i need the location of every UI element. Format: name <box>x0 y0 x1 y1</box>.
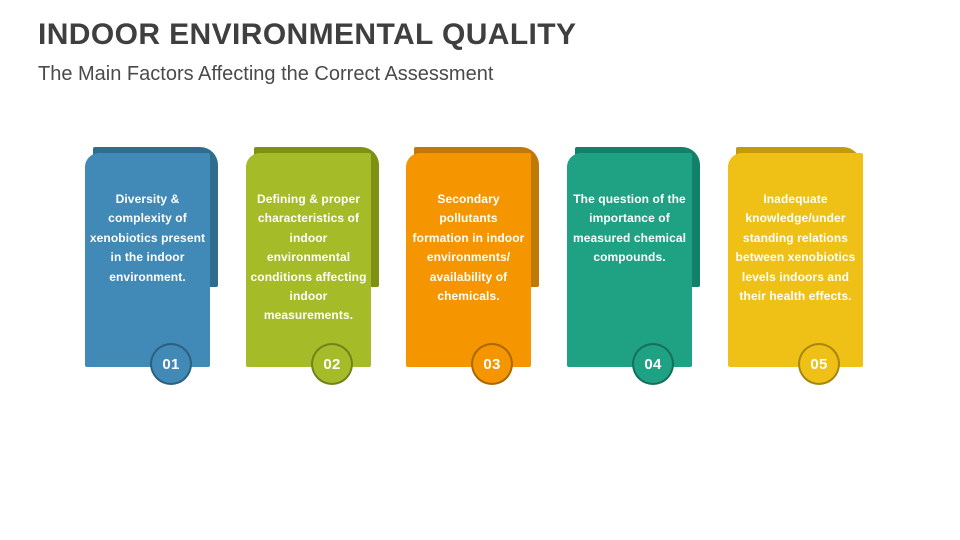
card-badge-4[interactable]: 04 <box>632 343 674 385</box>
infographic-card-4[interactable]: The question of the importance of measur… <box>567 147 692 382</box>
card-badge-3[interactable]: 03 <box>471 343 513 385</box>
card-badge-2[interactable]: 02 <box>311 343 353 385</box>
infographic-card-row: Diversity & complexity of xenobiotics pr… <box>0 0 960 540</box>
card-text-2: Defining & proper characteristics of ind… <box>250 190 367 326</box>
infographic-card-3[interactable]: Secondary pollutants formation in indoor… <box>406 147 531 382</box>
card-text-4: The question of the importance of measur… <box>571 190 688 268</box>
infographic-card-1[interactable]: Diversity & complexity of xenobiotics pr… <box>85 147 210 382</box>
infographic-card-2[interactable]: Defining & proper characteristics of ind… <box>246 147 371 382</box>
card-text-3: Secondary pollutants formation in indoor… <box>410 190 527 306</box>
card-badge-5[interactable]: 05 <box>798 343 840 385</box>
slide-canvas: INDOOR ENVIRONMENTAL QUALITY The Main Fa… <box>0 0 960 540</box>
card-text-5: Inadequate knowledge/under standing rela… <box>732 190 859 306</box>
infographic-card-5[interactable]: Inadequate knowledge/under standing rela… <box>728 147 853 382</box>
card-badge-1[interactable]: 01 <box>150 343 192 385</box>
card-text-1: Diversity & complexity of xenobiotics pr… <box>89 190 206 287</box>
